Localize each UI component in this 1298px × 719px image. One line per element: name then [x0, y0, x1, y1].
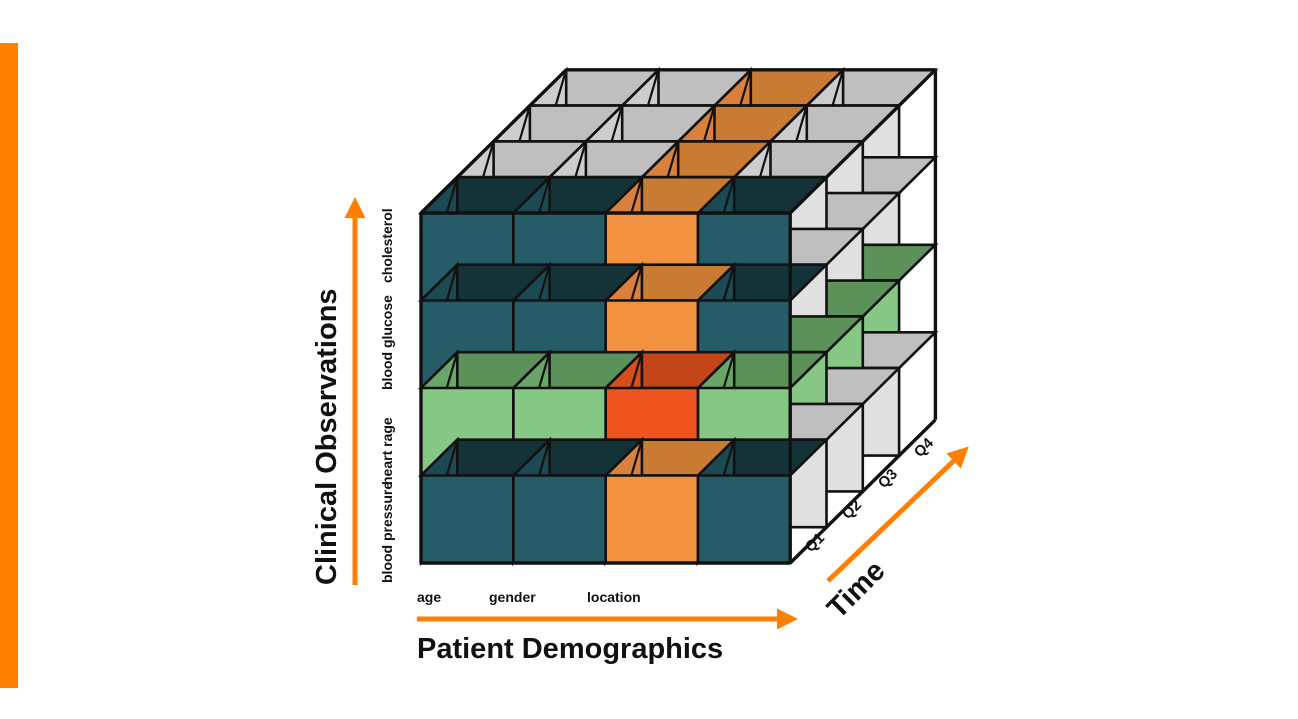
y-tick-0: blood pressure	[379, 482, 395, 583]
cell-column-highlight-front	[606, 476, 698, 564]
z-axis-title: Time	[821, 555, 891, 625]
y-tick-3: cholesterol	[379, 208, 395, 283]
z-tick-1: Q2	[839, 497, 865, 523]
z-tick-2: Q3	[875, 466, 901, 492]
x-tick-2: location	[587, 589, 641, 605]
x-tick-1: gender	[489, 589, 536, 605]
y-axis: blood pressure heart rage blood glucose …	[311, 205, 395, 585]
isometric-cube	[421, 70, 935, 563]
x-axis: age gender location Patient Demographics	[417, 589, 790, 665]
cell-base-front	[421, 476, 513, 564]
y-axis-title: Clinical Observations	[311, 288, 343, 585]
x-tick-0: age	[417, 589, 441, 605]
cell-base-front	[513, 476, 605, 564]
x-axis-title: Patient Demographics	[417, 633, 723, 665]
cell-base-front	[698, 476, 790, 564]
y-tick-1: heart rage	[379, 417, 395, 485]
figure-canvas: blood pressure heart rage blood glucose …	[0, 0, 1298, 719]
data-cube-figure: blood pressure heart rage blood glucose …	[0, 0, 1298, 719]
z-tick-0: Q1	[802, 530, 828, 556]
y-tick-2: blood glucose	[379, 295, 395, 390]
